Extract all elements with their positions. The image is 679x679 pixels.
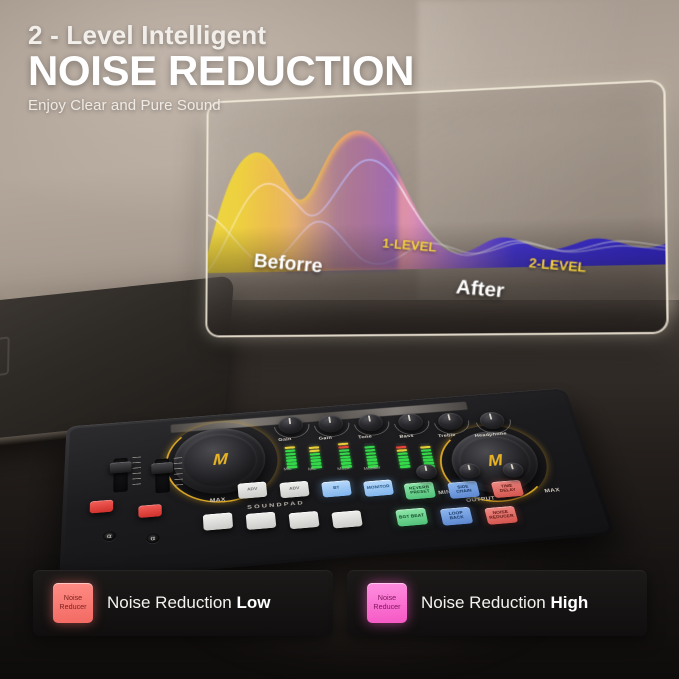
comparison-low-text: Noise Reduction Low [107,593,270,613]
laptop-logo-icon [0,336,10,381]
pad-row2-4[interactable] [331,510,362,528]
pad-row2-1[interactable] [203,512,233,530]
comparison-low-label: Noise Reduction [107,593,236,612]
led-meter-mic-1-label: Mic [283,467,291,472]
main-knob-max-label: MAX [210,497,226,503]
led-meter-monitor-label: Monitor [363,466,380,471]
headphone-jack-2[interactable]: ⍺ [146,533,159,544]
pad-adv-1[interactable]: ADV [237,481,267,499]
pad-reverb-preset[interactable]: REVERB PRESET [404,481,437,499]
pad-adv-2[interactable]: ADV [279,481,309,499]
soundpad-section-label: SOUNDPAD [247,499,305,510]
knob-gain-1-label: Gain [278,437,292,443]
led-meter-music-label: Music [337,466,351,471]
comparison-high-text: Noise Reduction High [421,593,588,613]
headline-line-1: 2 - Level Intelligent [28,22,498,49]
glass-panel-body: Beforre 1-LEVEL After 2-LEVEL [205,79,669,337]
red-function-button-2[interactable] [138,504,162,518]
pad-bgt-beat[interactable]: BGT BEAT [395,508,428,527]
led-meter-mic-2 [308,443,322,469]
headphone-icon-2: ⍺ [150,535,155,541]
knob-gain-2-label: Gain [318,436,332,442]
product-marketing-image: 2 - Level Intelligent NOISE REDUCTION En… [0,0,679,679]
pad-side-chain[interactable]: SIDE CHAIN [447,481,480,499]
knob-tone-label: Tone [358,434,373,440]
red-function-button-1[interactable] [90,500,114,514]
pad-time-delay[interactable]: TIME DELAY [491,480,524,498]
pad-bt[interactable]: BT [321,480,352,498]
headphone-icon: ⍺ [107,533,112,539]
fader-scale-2 [174,456,189,492]
pad-monitor[interactable]: MONITOR [363,479,394,497]
chart-label-after: After [455,276,505,303]
comparison-low-emphasis: Low [236,593,270,612]
fader-handle-2[interactable] [151,462,173,474]
comparison-card-low: Noise Reducer Noise Reduction Low [33,570,333,636]
comparison-card-high: Noise Reducer Noise Reduction High [347,570,647,636]
brand-logo-icon-right: M [488,452,502,472]
knob-bass-label: Bass [399,434,414,440]
pad-row2-2[interactable] [246,512,277,530]
headline-block: 2 - Level Intelligent NOISE REDUCTION En… [28,22,498,114]
fader-handle-1[interactable] [110,461,132,473]
glass-display-panel: Beforre 1-LEVEL After 2-LEVEL [205,79,669,337]
comparison-high-emphasis: High [550,593,588,612]
led-meter-music [338,443,352,468]
headline-line-2: NOISE REDUCTION [28,50,498,92]
pad-noise-reducer[interactable]: NOISE REDUCER [484,506,518,525]
noise-reducer-chip-low[interactable]: Noise Reducer [53,583,93,623]
chip-low-line-2: Reducer [59,603,86,612]
headline-subtitle: Enjoy Clear and Pure Sound [28,97,498,114]
comparison-high-label: Noise Reduction [421,593,550,612]
noise-reducer-chip-high[interactable]: Noise Reducer [367,583,407,623]
glass-panel-shadow [207,216,666,335]
chip-high-line-2: Reducer [373,603,400,612]
pad-loop-back[interactable]: LOOP BACK [440,507,474,526]
fader-scale-1 [132,455,145,491]
pad-row2-3[interactable] [289,511,320,529]
led-meter-monitor [364,443,379,468]
output-knob-max-label: MAX [544,488,561,494]
led-meter-aux-1 [395,443,410,468]
led-meter-mic-2-label: Mic [308,467,316,472]
led-meter-mic-1 [284,443,297,469]
headphone-jack-1[interactable]: ⍺ [103,531,116,542]
